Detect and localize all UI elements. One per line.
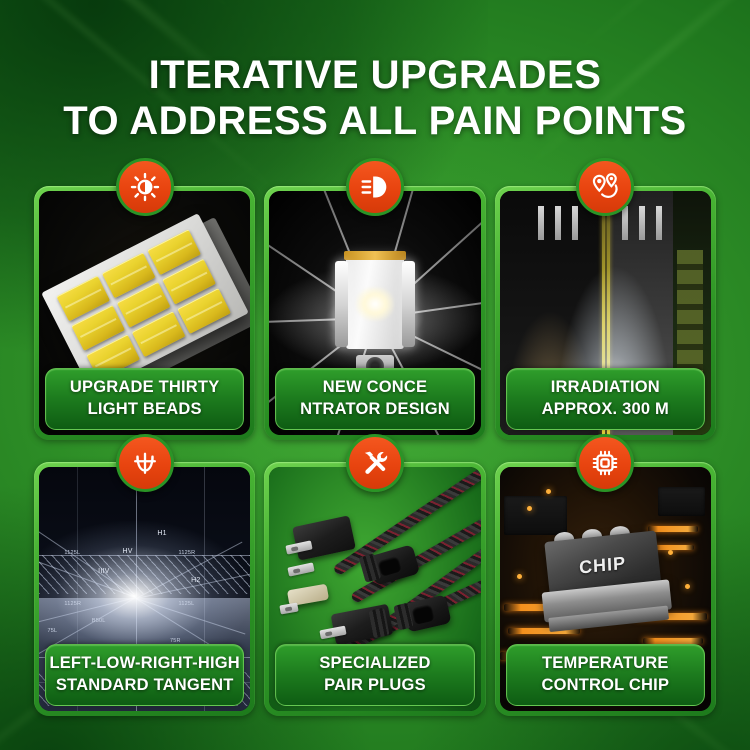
map-pins-route-icon: [576, 158, 634, 216]
tools-hammer-wrench-icon: [346, 434, 404, 492]
diagram-label: 1125L: [178, 601, 194, 607]
diagram-label: 1125R: [178, 550, 195, 556]
card-label-line2: CONTROL CHIP: [541, 675, 669, 697]
card-label: TEMPERATURE CONTROL CHIP: [506, 644, 705, 706]
beam-cutoff-pattern-icon: [116, 434, 174, 492]
page-title-line2: TO ADDRESS ALL PAIN POINTS: [0, 98, 750, 144]
card-frame: H1 HV IIIV H2 1125L 1125R 1125R 1125L 75…: [34, 462, 255, 716]
card-frame: NEW CONCE NTRATOR DESIGN: [264, 186, 485, 440]
card-frame: CHIP TEMPERATURE CONTROL CHIP: [495, 462, 716, 716]
card-label-line2: STANDARD TANGENT: [56, 675, 234, 697]
card-frame: UPGRADE THIRTY LIGHT BEADS: [34, 186, 255, 440]
card-label-line2: NTRATOR DESIGN: [300, 399, 450, 421]
card-label: LEFT-LOW-RIGHT-HIGH STANDARD TANGENT: [45, 644, 244, 706]
card-inner: UPGRADE THIRTY LIGHT BEADS: [39, 191, 250, 435]
card-label-line2: PAIR PLUGS: [324, 675, 426, 697]
card-frame: IRRADIATION APPROX. 300 M: [495, 186, 716, 440]
diagram-label: H1: [157, 530, 166, 537]
cpu-chip-icon: [576, 434, 634, 492]
diagram-label: H2: [191, 577, 200, 584]
diagram-label: B50L: [92, 618, 106, 624]
brightness-sun-icon: [116, 158, 174, 216]
card-label: UPGRADE THIRTY LIGHT BEADS: [45, 368, 244, 430]
card-inner: SPECIALIZED PAIR PLUGS: [269, 467, 480, 711]
diagram-label: 75L: [47, 628, 57, 634]
diagram-label: 75R: [170, 638, 181, 644]
feature-card-upgrade-light-beads[interactable]: UPGRADE THIRTY LIGHT BEADS: [34, 186, 255, 440]
diagram-label: 1125R: [64, 601, 81, 607]
diagram-label: IIIV: [98, 568, 109, 575]
feature-card-irradiation-distance[interactable]: IRRADIATION APPROX. 300 M: [495, 186, 716, 440]
card-label-line1: SPECIALIZED: [319, 653, 430, 675]
card-frame: SPECIALIZED PAIR PLUGS: [264, 462, 485, 716]
diagram-label: HV: [122, 548, 132, 555]
card-label-line2: LIGHT BEADS: [88, 399, 202, 421]
card-label-line1: NEW CONCE: [323, 377, 427, 399]
low-beam-headlight-icon: [346, 158, 404, 216]
feature-card-specialized-plugs[interactable]: SPECIALIZED PAIR PLUGS: [264, 462, 485, 716]
diagram-label: 1125L: [64, 550, 80, 556]
feature-card-grid: UPGRADE THIRTY LIGHT BEADS: [34, 186, 716, 716]
card-label: SPECIALIZED PAIR PLUGS: [275, 644, 474, 706]
feature-card-temperature-control-chip[interactable]: CHIP TEMPERATURE CONTROL CHIP: [495, 462, 716, 716]
page-title: ITERATIVE UPGRADES TO ADDRESS ALL PAIN P…: [0, 52, 750, 145]
card-inner: IRRADIATION APPROX. 300 M: [500, 191, 711, 435]
card-label-line1: IRRADIATION: [551, 377, 660, 399]
card-label: IRRADIATION APPROX. 300 M: [506, 368, 705, 430]
page-title-line1: ITERATIVE UPGRADES: [149, 53, 602, 97]
card-label: NEW CONCE NTRATOR DESIGN: [275, 368, 474, 430]
card-inner: CHIP TEMPERATURE CONTROL CHIP: [500, 467, 711, 711]
feature-card-concentrator-design[interactable]: NEW CONCE NTRATOR DESIGN: [264, 186, 485, 440]
card-label-line1: UPGRADE THIRTY: [70, 377, 219, 399]
chip-label: CHIP: [580, 552, 627, 578]
card-inner: H1 HV IIIV H2 1125L 1125R 1125R 1125L 75…: [39, 467, 250, 711]
card-label-line1: LEFT-LOW-RIGHT-HIGH: [49, 653, 239, 675]
card-label-line1: TEMPERATURE: [542, 653, 669, 675]
card-inner: NEW CONCE NTRATOR DESIGN: [269, 191, 480, 435]
feature-card-standard-tangent[interactable]: H1 HV IIIV H2 1125L 1125R 1125R 1125L 75…: [34, 462, 255, 716]
card-label-line2: APPROX. 300 M: [542, 399, 669, 421]
